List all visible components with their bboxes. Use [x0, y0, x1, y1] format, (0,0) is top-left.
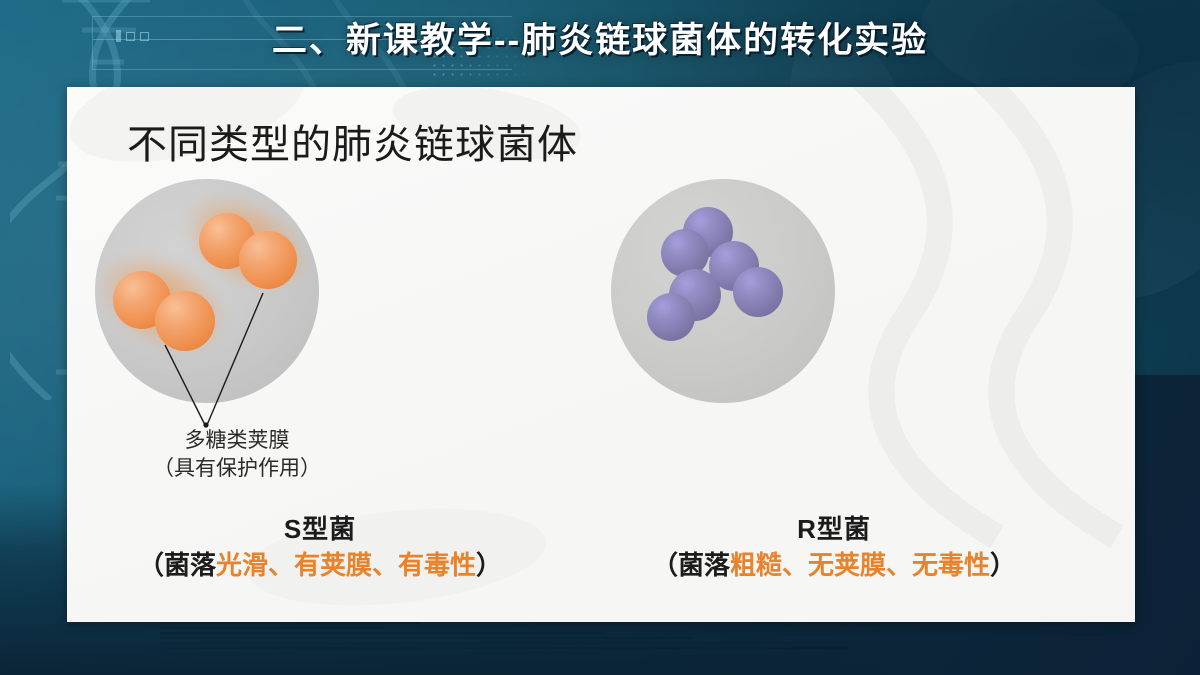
slide-stage: 二、新课教学--肺炎链球菌体的转化实验 不同类型的肺炎链球菌体	[0, 0, 1200, 675]
page-title: 二、新课教学--肺炎链球菌体的转化实验	[272, 12, 928, 63]
s-type-name: S型菌	[85, 512, 555, 547]
capsule-annotation: 多糖类荚膜 （具有保护作用）	[122, 427, 352, 482]
s-type-caption: S型菌 （菌落光滑、有荚膜、有毒性）	[85, 512, 555, 583]
s-desc-close: ）	[476, 550, 502, 580]
capsule-annotation-line1: 多糖类荚膜	[122, 427, 352, 455]
r-desc-highlight: 粗糙、无荚膜、无毒性	[730, 550, 990, 580]
r-desc-open: （菌落	[652, 550, 730, 580]
coccus	[733, 267, 783, 317]
content-card: 不同类型的肺炎链球菌体	[67, 87, 1135, 622]
capsule-annotation-line2: （具有保护作用）	[122, 455, 352, 483]
r-type-name: R型菌	[599, 512, 1069, 547]
s-type-description: （菌落光滑、有荚膜、有毒性）	[85, 547, 555, 583]
coccus	[239, 231, 297, 289]
r-type-caption: R型菌 （菌落粗糙、无荚膜、无毒性）	[599, 512, 1069, 583]
coccus	[155, 291, 215, 351]
coccus	[647, 293, 695, 341]
r-type-colony-plate	[611, 179, 835, 403]
s-desc-highlight: 光滑、有荚膜、有毒性	[216, 550, 476, 580]
r-type-description: （菌落粗糙、无荚膜、无毒性）	[599, 547, 1069, 583]
r-desc-close: ）	[990, 550, 1016, 580]
background-microtext-decoration	[160, 617, 880, 657]
card-heading: 不同类型的肺炎链球菌体	[127, 112, 578, 170]
title-bar: 二、新课教学--肺炎链球菌体的转化实验	[0, 10, 1200, 64]
s-type-colony-plate	[95, 179, 319, 403]
s-desc-open: （菌落	[138, 550, 216, 580]
